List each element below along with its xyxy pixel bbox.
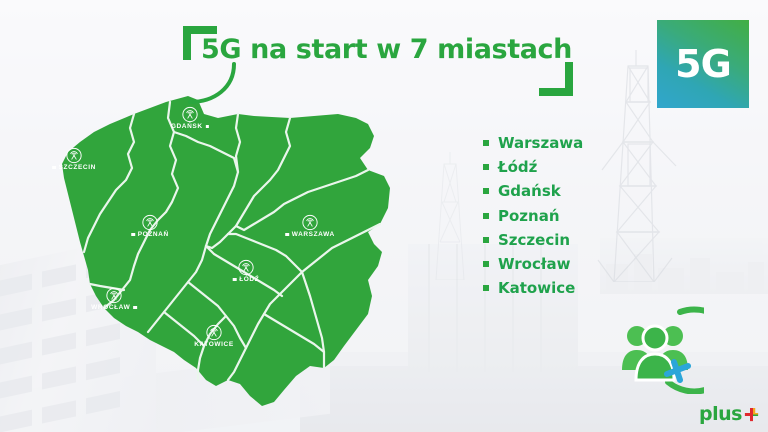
marker-name: POZNAŃ [138,231,169,238]
city-name: Warszawa [498,134,583,152]
city-list: Warszawa Łódź Gdańsk Poznań Szczecin Wro… [483,131,653,300]
map-marker-label: WARSZAWA [285,231,335,238]
marker-name: WROCŁAW [91,304,130,311]
marker-dot-icon [133,306,137,310]
list-item[interactable]: Warszawa [483,131,653,155]
bullet-square-icon [483,213,489,219]
bullet-square-icon [483,188,489,194]
bullet-square-icon [483,261,489,267]
brand-logo[interactable]: plus [699,403,759,425]
signal-tower-icon [302,214,319,231]
list-item[interactable]: Szczecin [483,228,653,252]
city-name: Poznań [498,207,560,225]
marker-dot-icon [52,166,56,170]
brand-wordmark: plus [699,405,742,424]
marker-name: SZCZECIN [59,164,96,171]
map-marker-label: SZCZECIN [52,164,96,171]
city-name: Szczecin [498,231,570,249]
marker-name: KATOWICE [194,341,234,348]
marker-dot-icon [206,125,210,129]
poland-map-svg [38,84,430,424]
infographic-canvas: GDAŃSK SZCZECIN [0,0,768,432]
marker-name: WARSZAWA [292,231,335,238]
list-item[interactable]: Łódź [483,155,653,179]
signal-tower-icon [66,147,83,164]
signal-tower-icon [238,259,255,276]
corner-bracket-icon [539,62,573,96]
signal-tower-icon [142,214,159,231]
map-marker-label: ŁÓDŹ [233,276,260,283]
list-item[interactable]: Wrocław [483,252,653,276]
marker-dot-icon [285,233,289,237]
5g-badge-label: 5G [675,42,731,86]
curved-arrow-icon [168,62,238,108]
map-marker-label: POZNAŃ [131,231,169,238]
bullet-square-icon [483,140,489,146]
marker-dot-icon [233,278,237,282]
5g-badge: 5G [657,20,749,108]
city-name: Gdańsk [498,182,561,200]
bullet-square-icon [483,237,489,243]
people-group-circle-icon [606,296,704,394]
marker-name: ŁÓDŹ [239,276,259,283]
marker-dot-icon [131,233,135,237]
list-item[interactable]: Poznań [483,204,653,228]
signal-tower-icon [206,324,223,341]
headline-block: 5G na start w 7 miastach [183,26,573,96]
marker-name: GDAŃSK [171,123,203,130]
list-item[interactable]: Gdańsk [483,179,653,203]
page-title: 5G na start w 7 miastach [201,34,572,65]
bullet-square-icon [483,164,489,170]
poland-outline [62,96,390,406]
signal-tower-icon [182,106,199,123]
signal-tower-icon [106,287,123,304]
bullet-square-icon [483,285,489,291]
map-marker-label: KATOWICE [194,341,234,348]
city-name: Łódź [498,158,537,176]
city-name: Wrocław [498,255,570,273]
poland-map[interactable]: GDAŃSK SZCZECIN [38,84,430,424]
map-marker-label: WROCŁAW [91,304,137,311]
city-name: Katowice [498,279,575,297]
map-marker-label: GDAŃSK [171,123,209,130]
plus-logo-icon [744,407,759,422]
